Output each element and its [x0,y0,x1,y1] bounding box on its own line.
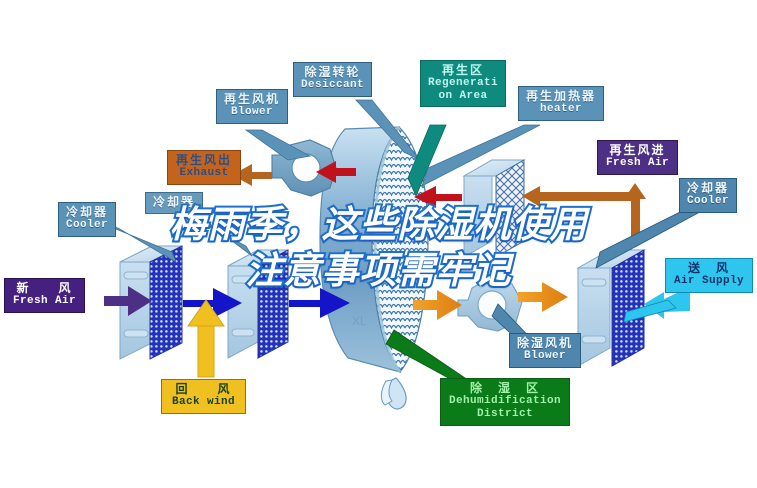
label-regeneration-fresh-air-in[interactable]: 再生风进 Fresh Air [597,140,678,175]
label-dehumidification-blower[interactable]: 除湿风机 Blower [509,333,581,368]
label-regeneration-area-en1: Regenerati [428,77,498,89]
label-cooler-right-en: Cooler [687,195,729,207]
label-desiccant-wheel-cn: 除湿转轮 [301,66,364,79]
diagram-canvas: XL [0,0,757,488]
arrow-regen-fresh-in [522,183,646,241]
label-regeneration-area-en2: on Area [428,90,498,102]
label-fresh-air-inlet[interactable]: 新 风 Fresh Air [4,278,85,313]
label-cooler-left[interactable]: 冷却器 Cooler [58,202,116,237]
label-air-supply-en: Air Supply [674,275,744,287]
label-air-supply-cn: 送 风 [674,262,744,275]
label-fresh-air-inlet-en: Fresh Air [13,295,76,307]
label-regeneration-area-cn: 再生区 [428,64,498,77]
label-regeneration-heater-en: heater [526,103,596,115]
label-cooler-right[interactable]: 冷却器 Cooler [679,178,737,213]
label-regeneration-heater[interactable]: 再生加热器 heater [518,86,604,121]
label-fresh-air-inlet-cn: 新 风 [13,282,76,295]
label-cooler-left-cn: 冷却器 [66,206,108,219]
dehumidifier-schematic: XL [0,0,757,488]
label-dehumidification-district-en1: Dehumidification [449,395,561,407]
regeneration-heater [464,160,524,257]
label-regeneration-fresh-air-in-en: Fresh Air [606,157,669,169]
label-dehumidification-district[interactable]: 除 湿 区 Dehumidification District [440,378,570,426]
arrow-dry-air-2 [518,282,568,312]
label-regeneration-heater-cn: 再生加热器 [526,90,596,103]
cooler-unit-right [578,250,644,366]
label-regeneration-exhaust-cn: 再生风出 [176,154,232,167]
label-regeneration-exhaust[interactable]: 再生风出 Exhaust [167,150,241,185]
label-regeneration-blower-en: Blower [224,106,280,118]
label-air-supply[interactable]: 送 风 Air Supply [665,258,753,293]
label-cooler-right-cn: 冷却器 [687,182,729,195]
label-regeneration-exhaust-en: Exhaust [176,167,232,179]
label-dehumidification-blower-en: Blower [517,350,573,362]
label-regeneration-blower-cn: 再生风机 [224,93,280,106]
label-cooler-left-en: Cooler [66,219,108,231]
label-desiccant-wheel-en: Desiccant [301,79,364,91]
label-regeneration-blower[interactable]: 再生风机 Blower [216,89,288,124]
label-dehumidification-district-en2: District [449,408,561,420]
label-cooler-middle-cn: 冷却器 [153,196,195,209]
label-regeneration-fresh-air-in-cn: 再生风进 [606,144,669,157]
label-back-wind-en: Back wind [172,396,235,408]
label-back-wind-cn: 回 风 [172,383,235,396]
rotor-watermark: XL [352,314,367,328]
label-cooler-middle[interactable]: 冷却器 [145,192,203,214]
label-regeneration-area[interactable]: 再生区 Regenerati on Area [420,60,506,107]
label-desiccant-wheel[interactable]: 除湿转轮 Desiccant [293,62,372,97]
label-dehumidification-blower-cn: 除湿风机 [517,337,573,350]
label-back-wind[interactable]: 回 风 Back wind [161,379,246,414]
label-dehumidification-district-cn: 除 湿 区 [449,382,561,395]
